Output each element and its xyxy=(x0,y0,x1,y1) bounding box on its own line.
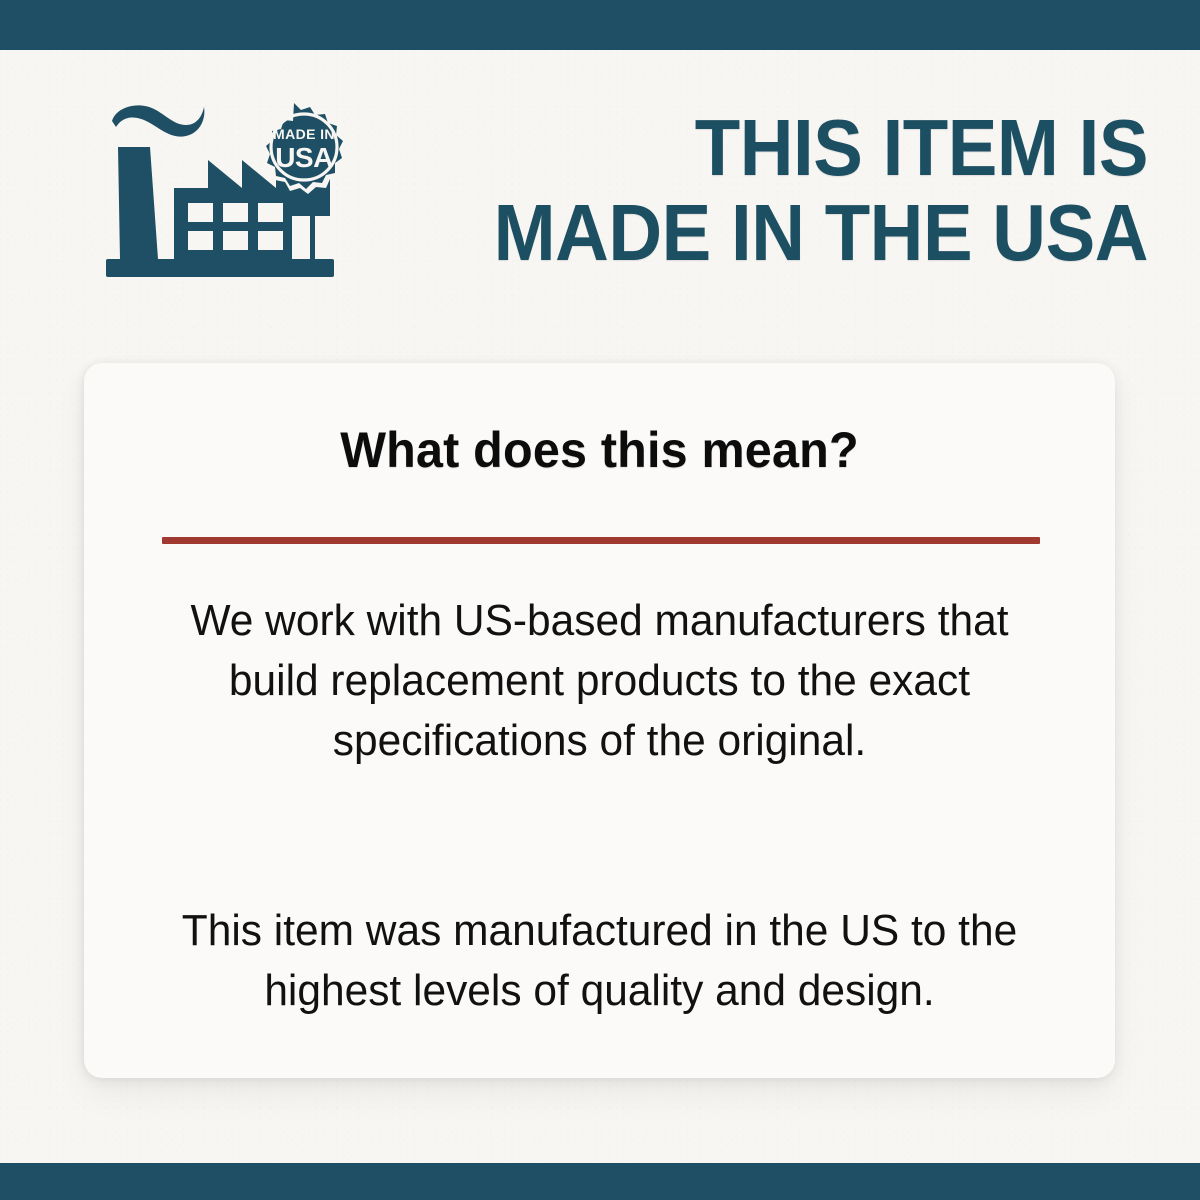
badge-usa-text: USA xyxy=(275,142,333,173)
bottom-accent-band xyxy=(0,1163,1200,1200)
header: MADE IN USA THIS ITEM IS MADE IN THE USA xyxy=(0,90,1200,290)
smokestack-icon xyxy=(118,147,158,259)
factory-base xyxy=(106,259,334,277)
card-paragraph-1: We work with US-based manufacturers that… xyxy=(141,591,1059,771)
headline-line-1: THIS ITEM IS xyxy=(413,105,1148,190)
top-accent-band xyxy=(0,0,1200,50)
made-in-usa-badge-icon: MADE IN USA xyxy=(263,103,348,194)
smoke-plume-icon xyxy=(112,105,204,136)
info-card: What does this mean? We work with US-bas… xyxy=(84,363,1115,1078)
badge-made-in-text: MADE IN xyxy=(273,126,335,142)
card-body: We work with US-based manufacturers that… xyxy=(141,591,1059,1021)
headline-line-2: MADE IN THE USA xyxy=(413,190,1148,275)
page-root: MADE IN USA THIS ITEM IS MADE IN THE USA… xyxy=(0,0,1200,1200)
title-divider xyxy=(162,537,1040,544)
page-headline: THIS ITEM IS MADE IN THE USA xyxy=(413,105,1148,275)
made-in-usa-logo: MADE IN USA xyxy=(102,103,348,281)
card-paragraph-2: This item was manufactured in the US to … xyxy=(141,901,1059,1021)
card-title: What does this mean? xyxy=(99,421,1099,479)
